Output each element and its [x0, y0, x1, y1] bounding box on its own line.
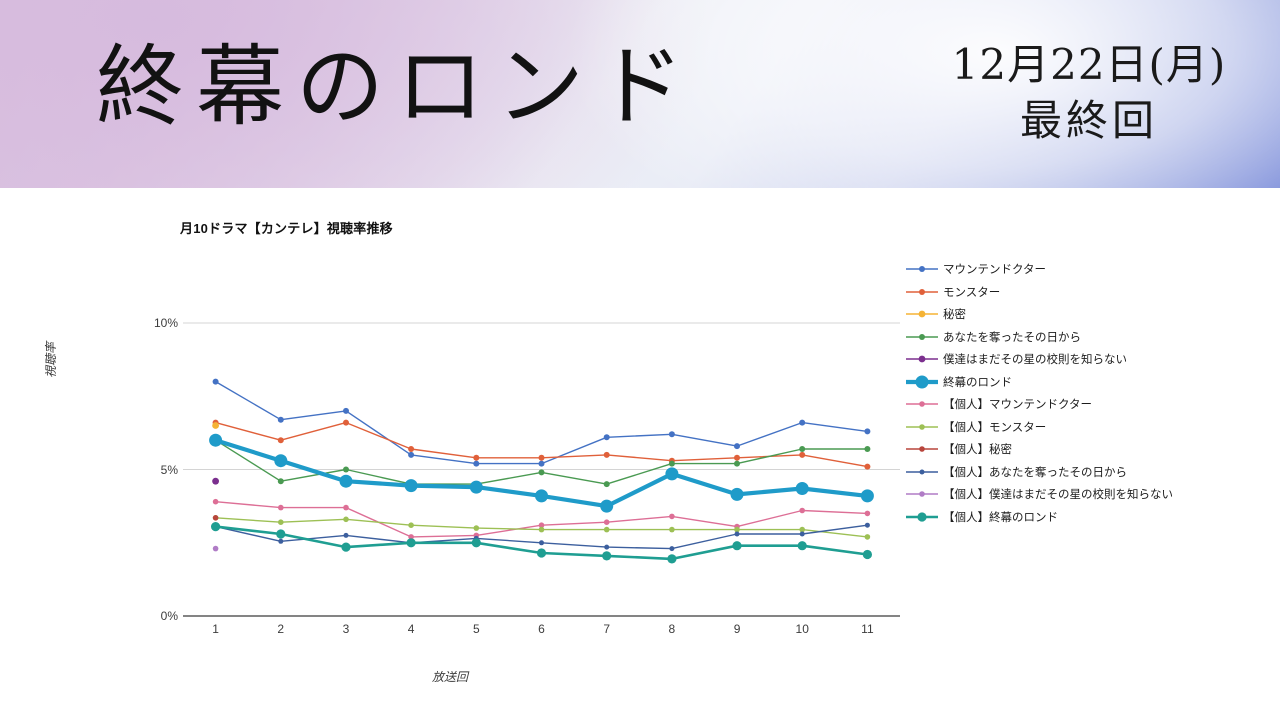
legend-label: 【個人】秘密 — [939, 441, 1012, 457]
series-marker — [734, 443, 740, 449]
series-marker — [665, 467, 678, 480]
legend-label: あなたを奪ったその日から — [939, 329, 1081, 345]
legend-item[interactable]: 【個人】秘密 — [905, 438, 1280, 461]
series-marker — [470, 481, 483, 494]
series-marker — [800, 532, 805, 537]
series-marker — [340, 475, 353, 488]
series-marker — [537, 548, 546, 557]
series-marker — [734, 455, 740, 461]
series-marker — [278, 478, 284, 484]
program-title: 終幕のロンド — [96, 24, 696, 150]
series-marker — [865, 511, 871, 517]
series-marker — [799, 452, 805, 458]
legend-item[interactable]: マウンテンドクター — [905, 258, 1280, 281]
series-marker — [796, 482, 809, 495]
series-marker — [408, 446, 414, 452]
series-marker — [535, 489, 548, 502]
series-marker — [732, 541, 741, 550]
legend-line-icon — [905, 326, 939, 348]
legend-label: 【個人】マウンテンドクター — [939, 396, 1092, 412]
series-marker — [799, 508, 805, 514]
legend-line-icon — [905, 483, 939, 505]
legend-line-icon — [905, 258, 939, 280]
legend-line-icon — [905, 281, 939, 303]
series-marker — [799, 446, 805, 452]
series-marker — [539, 540, 544, 545]
series-marker — [408, 452, 414, 458]
series-marker — [799, 420, 805, 426]
legend-item[interactable]: モンスター — [905, 281, 1280, 304]
series-marker — [213, 379, 219, 385]
series-marker — [604, 434, 610, 440]
series-marker — [669, 431, 675, 437]
broadcast-date-block: 12月22日(月) 最終回 — [924, 38, 1254, 148]
series-marker — [212, 478, 219, 485]
series-marker — [341, 543, 350, 552]
chart-container: 月10ドラマ【カンテレ】視聴率推移 視聴率 0%5%10% 1234567891… — [0, 188, 1280, 720]
series-marker — [865, 523, 870, 528]
legend-item[interactable]: 【個人】モンスター — [905, 416, 1280, 439]
series-marker — [474, 525, 480, 531]
series-marker — [211, 522, 220, 531]
series-marker — [604, 545, 609, 550]
series-8 — [213, 515, 219, 521]
series-marker — [278, 505, 284, 511]
series-marker — [278, 437, 284, 443]
legend-line-icon — [905, 416, 939, 438]
legend-label: 【個人】終幕のロンド — [939, 509, 1058, 525]
series-marker — [669, 546, 674, 551]
series-marker — [864, 428, 870, 434]
series-marker — [669, 527, 675, 533]
series-marker — [473, 461, 479, 467]
series-marker — [669, 461, 675, 467]
series-marker — [667, 554, 676, 563]
series-marker — [864, 464, 870, 470]
legend-label: 【個人】モンスター — [939, 419, 1046, 435]
legend-label: 秘密 — [939, 306, 966, 322]
series-marker — [278, 519, 284, 525]
legend-item[interactable]: 秘密 — [905, 303, 1280, 326]
series-line — [216, 382, 868, 464]
series-marker — [343, 517, 349, 523]
series-marker — [276, 529, 285, 538]
series-marker — [604, 481, 610, 487]
series-marker — [604, 527, 610, 533]
series-marker — [212, 422, 219, 429]
series-marker — [473, 455, 479, 461]
legend-item[interactable]: 僕達はまだその星の校則を知らない — [905, 348, 1280, 371]
legend-item[interactable]: 【個人】マウンテンドクター — [905, 393, 1280, 416]
legend-line-icon — [905, 371, 939, 393]
series-marker — [539, 527, 545, 533]
series-marker — [604, 519, 610, 525]
legend-line-icon — [905, 461, 939, 483]
series-marker — [600, 500, 613, 513]
series-marker — [539, 461, 545, 467]
series-marker — [798, 541, 807, 550]
series-10 — [213, 546, 219, 552]
series-2 — [212, 422, 219, 429]
chart-legend: マウンテンドクターモンスター秘密あなたを奪ったその日から僕達はまだその星の校則を… — [905, 258, 1280, 528]
legend-line-icon — [905, 348, 939, 370]
legend-item[interactable]: 【個人】あなたを奪ったその日から — [905, 461, 1280, 484]
slide-root: 終幕のロンド 12月22日(月) 最終回 月10ドラマ【カンテレ】視聴率推移 視… — [0, 0, 1280, 720]
title-banner: 終幕のロンド 12月22日(月) 最終回 — [0, 0, 1280, 188]
legend-item[interactable]: 【個人】僕達はまだその星の校則を知らない — [905, 483, 1280, 506]
series-marker — [278, 539, 283, 544]
legend-item[interactable]: あなたを奪ったその日から — [905, 326, 1280, 349]
series-marker — [863, 550, 872, 559]
legend-label: モンスター — [939, 284, 1000, 300]
series-marker — [343, 505, 349, 511]
series-marker — [343, 420, 349, 426]
series-marker — [539, 469, 545, 475]
series-marker — [604, 452, 610, 458]
legend-line-icon — [905, 303, 939, 325]
series-marker — [213, 515, 219, 521]
series-marker — [735, 532, 740, 537]
series-0 — [213, 379, 871, 467]
legend-item[interactable]: 終幕のロンド — [905, 371, 1280, 394]
legend-label: 僕達はまだその星の校則を知らない — [939, 351, 1127, 367]
series-marker — [344, 533, 349, 538]
series-marker — [539, 455, 545, 461]
series-marker — [343, 467, 349, 473]
series-marker — [472, 538, 481, 547]
episode-note: 最終回 — [924, 94, 1254, 148]
plot-wrapper: 視聴率 0%5%10% 1234567891011 放送回 — [0, 188, 910, 720]
series-marker — [864, 446, 870, 452]
series-marker — [669, 514, 675, 520]
series-4 — [212, 478, 219, 485]
series-marker — [405, 479, 418, 492]
series-marker — [213, 546, 219, 552]
series-marker — [209, 434, 222, 447]
legend-item[interactable]: 【個人】終幕のロンド — [905, 506, 1280, 529]
line-chart-plot — [0, 188, 910, 720]
series-marker — [408, 522, 414, 528]
series-marker — [343, 408, 349, 414]
series-marker — [602, 551, 611, 560]
legend-line-icon — [905, 393, 939, 415]
legend-line-icon — [905, 506, 939, 528]
legend-label: 【個人】あなたを奪ったその日から — [939, 464, 1127, 480]
series-marker — [278, 417, 284, 423]
series-marker — [861, 489, 874, 502]
series-marker — [407, 538, 416, 547]
series-marker — [731, 488, 744, 501]
series-marker — [274, 454, 287, 467]
series-marker — [213, 499, 219, 505]
broadcast-date: 12月22日(月) — [924, 38, 1254, 92]
legend-label: 終幕のロンド — [939, 374, 1012, 390]
legend-line-icon — [905, 438, 939, 460]
legend-label: マウンテンドクター — [939, 261, 1046, 277]
legend-label: 【個人】僕達はまだその星の校則を知らない — [939, 486, 1173, 502]
series-marker — [865, 534, 871, 540]
series-marker — [734, 461, 740, 467]
